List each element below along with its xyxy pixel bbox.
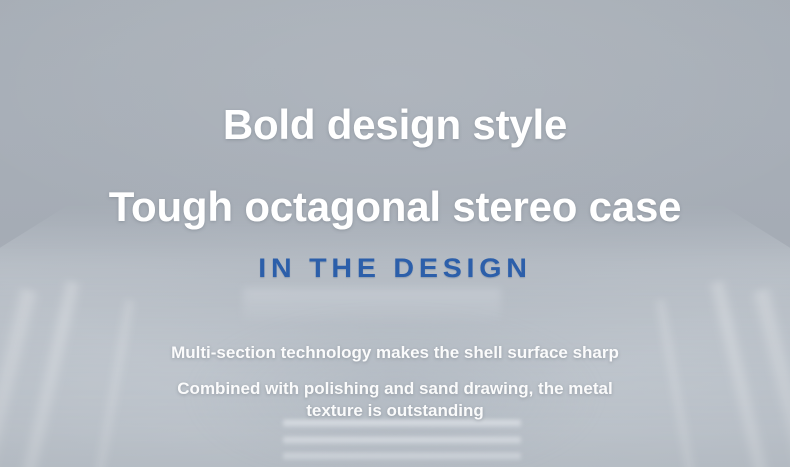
- marketing-copy-stack: Bold design style Tough octagonal stereo…: [0, 0, 790, 467]
- eyebrow-label: IN THE DESIGN: [0, 255, 790, 282]
- description-line-1: Multi-section technology makes the shell…: [0, 342, 790, 364]
- headline-primary: Bold design style: [0, 104, 790, 146]
- description-line-2: Combined with polishing and sand drawing…: [0, 378, 790, 422]
- product-design-banner: Bold design style Tough octagonal stereo…: [0, 0, 790, 467]
- headline-secondary: Tough octagonal stereo case: [0, 186, 790, 228]
